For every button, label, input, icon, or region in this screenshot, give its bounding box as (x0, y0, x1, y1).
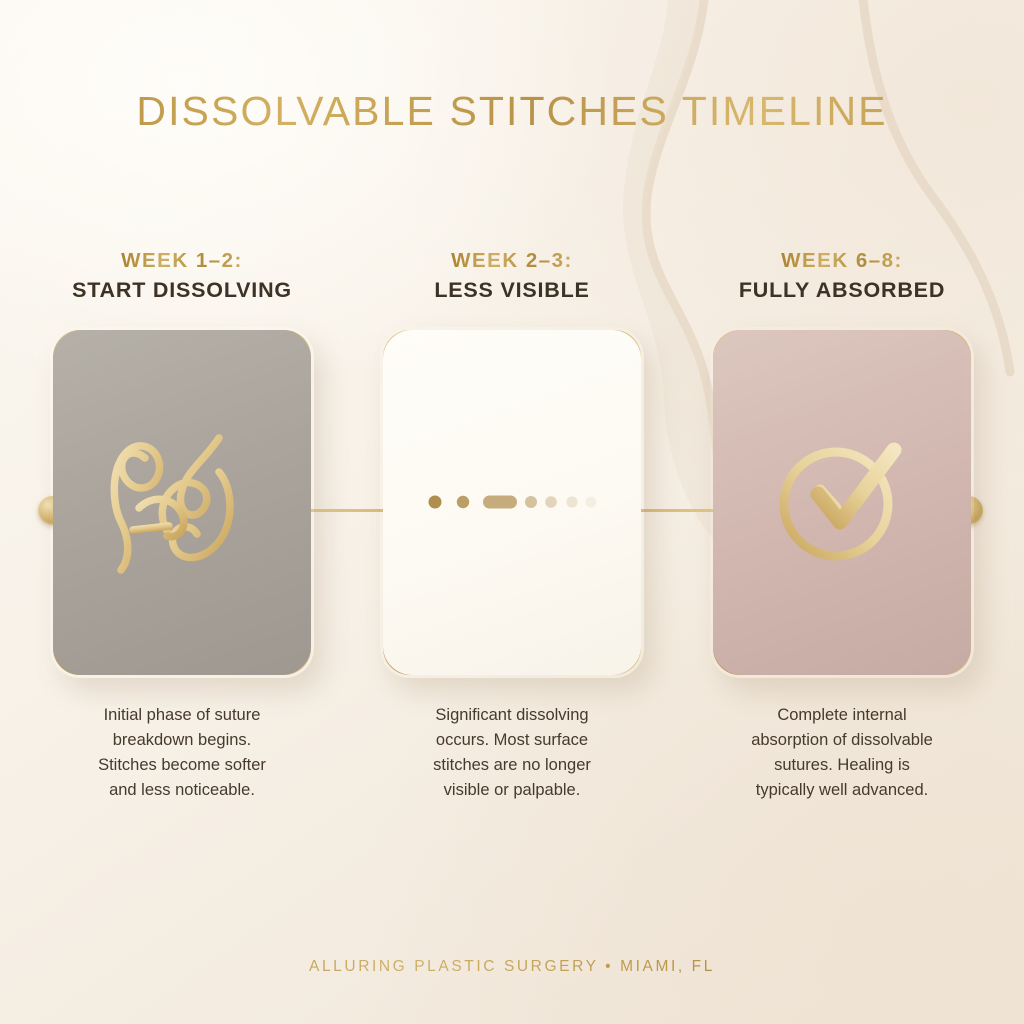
infographic-canvas: DISSOLVABLE STITCHES TIMELINE WEEK 1–2: … (0, 0, 1024, 1024)
timeline-step-1[interactable]: WEEK 1–2: START DISSOLVING (44, 248, 320, 803)
clock-check-icon (713, 330, 971, 675)
timeline-step-3[interactable]: WEEK 6–8: FULLY ABSORBED (704, 248, 980, 803)
fading-stitch-dots-icon (383, 330, 641, 675)
step-1-title: START DISSOLVING (72, 277, 292, 304)
step-2-title: LESS VISIBLE (434, 277, 589, 304)
timeline-step-2[interactable]: WEEK 2–3: LESS VISIBLE (374, 248, 650, 803)
step-1-card[interactable] (50, 327, 314, 678)
step-2-card[interactable] (380, 327, 644, 678)
step-2-caption: Significant dissolving occurs. Most surf… (387, 703, 637, 803)
step-3-title: FULLY ABSORBED (739, 277, 945, 304)
step-2-week-label: WEEK 2–3: (451, 248, 573, 274)
step-1-caption: Initial phase of suture breakdown begins… (57, 703, 307, 803)
step-1-week-label: WEEK 1–2: (121, 248, 243, 274)
page-title: DISSOLVABLE STITCHES TIMELINE (0, 88, 1024, 135)
timeline-steps: WEEK 1–2: START DISSOLVING (44, 248, 980, 803)
step-3-caption: Complete internal absorption of dissolva… (717, 703, 967, 803)
footer-brand: ALLURING PLASTIC SURGERY • MIAMI, FL (0, 958, 1024, 976)
step-3-card[interactable] (710, 327, 974, 678)
step-3-week-label: WEEK 6–8: (781, 248, 903, 274)
suture-knot-icon (53, 330, 311, 675)
